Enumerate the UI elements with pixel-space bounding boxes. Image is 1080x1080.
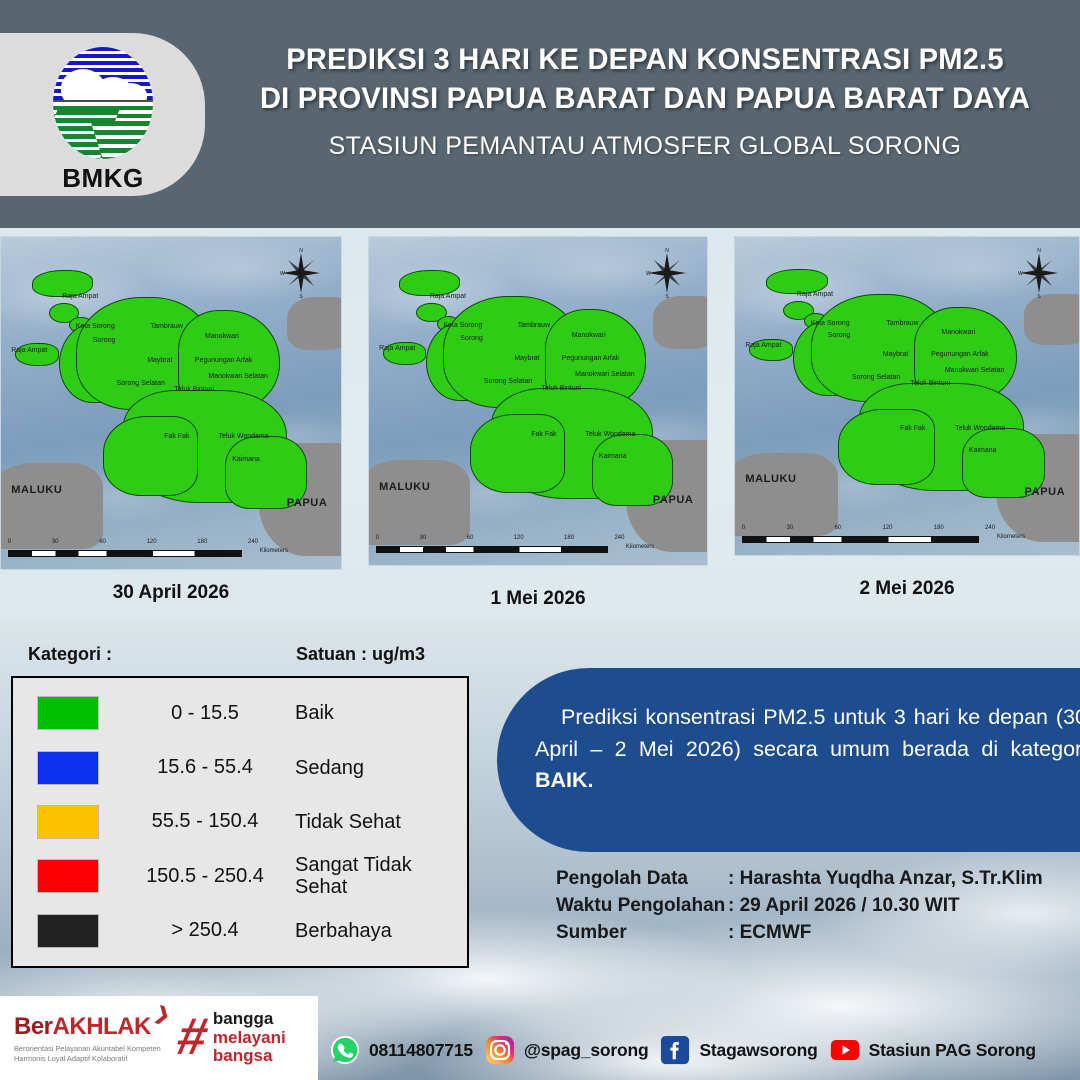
berakhlak-tagline-line1: Berorientasi Pelayanan Akuntabel Kompete…	[14, 1044, 164, 1054]
scale-tick-0: 0	[742, 525, 745, 531]
map-label-maybrat: Maybrat	[514, 355, 539, 362]
map-label-maluku: MALUKU	[11, 484, 62, 496]
map-label-raja-ampat-2: Raja Ampat	[745, 342, 781, 349]
map-image-day1[interactable]: MALUKU PAPUA Tambrauw Manokwari Pegunung…	[0, 236, 342, 570]
legend-box: 0 - 15.5 Baik 15.6 - 55.4 Sedang 55.5 - …	[11, 676, 469, 968]
map-label-maluku: MALUKU	[745, 473, 796, 485]
bangga-line3: bangsa	[213, 1047, 286, 1065]
svg-text:N: N	[299, 248, 303, 254]
map-label-papua: PAPUA	[287, 497, 328, 509]
legend-range: > 250.4	[115, 919, 295, 942]
scale-tick-1: 30	[419, 535, 426, 541]
svg-text:W: W	[1018, 271, 1023, 277]
social-instagram[interactable]: @spag_sorong	[485, 1035, 649, 1065]
scale-tick-3: 120	[882, 525, 892, 531]
map-label-sorong: Sorong	[460, 335, 483, 342]
social-label-facebook: Stagawsorong	[699, 1040, 817, 1061]
meta-value: : Harashta Yuqdha Anzar, S.Tr.Klim	[728, 866, 1043, 893]
map-label-sorong-selatan: Sorong Selatan	[117, 380, 165, 387]
map-caption-day3: 2 Mei 2026	[734, 578, 1080, 600]
legend-range: 55.5 - 150.4	[115, 810, 295, 833]
offshore-landmass	[1024, 294, 1080, 345]
social-facebook[interactable]: Stagawsorong	[660, 1035, 817, 1065]
map-label-pegunungan-arfak: Pegunungan Arfak	[195, 357, 253, 364]
meta-label: Waktu Pengolahan	[556, 893, 728, 920]
map-image-day3[interactable]: MALUKU PAPUA Tambrauw Manokwari Pegunung…	[734, 236, 1080, 556]
instagram-icon[interactable]	[485, 1035, 515, 1065]
social-whatsapp[interactable]: 08114807715	[330, 1035, 473, 1065]
offshore-landmass	[287, 297, 342, 350]
berakhlak-tagline: Berorientasi Pelayanan Akuntabel Kompete…	[14, 1044, 164, 1064]
page-title-line1: PREDIKSI 3 HARI KE DEPAN KONSENTRASI PM2…	[228, 40, 1062, 79]
fakfak-area	[103, 416, 198, 496]
maluku-landmass	[368, 460, 470, 545]
metadata-block: Pengolah Data : Harashta Yuqdha Anzar, S…	[556, 866, 1043, 947]
map-label-raja-ampat-1: Raja Ampat	[62, 293, 98, 300]
svg-text:S: S	[1037, 294, 1041, 299]
social-youtube[interactable]: Stasiun PAG Sorong	[830, 1035, 1036, 1065]
map-label-manokwari: Manokwari	[572, 332, 606, 339]
scale-tick-0: 0	[376, 535, 379, 541]
compass-rose-icon: N W S	[1016, 247, 1062, 299]
map-label-raja-ampat-2: Raja Ampat	[11, 347, 47, 354]
summary-text: Prediksi konsentrasi PM2.5 untuk 3 hari …	[535, 702, 1080, 797]
bangga-melayani-bangsa-logo: # bangga melayani bangsa	[178, 1010, 286, 1065]
map-scalebar: 0 30 60 120 180 240 Kilometers	[8, 541, 280, 559]
legend-swatch-sedang	[37, 751, 99, 785]
scale-unit-label: Kilometers	[997, 534, 1025, 540]
summary-text-main: Prediksi konsentrasi PM2.5 untuk 3 hari …	[535, 705, 1080, 761]
map-label-manokwari-selatan: Manokwari Selatan	[575, 371, 635, 378]
meta-row-pengolah-data: Pengolah Data : Harashta Yuqdha Anzar, S…	[556, 866, 1043, 893]
meta-label: Sumber	[556, 920, 728, 947]
legend-satuan-label: Satuan : ug/m3	[296, 644, 425, 665]
social-label-whatsapp: 08114807715	[369, 1040, 473, 1061]
map-label-maybrat: Maybrat	[883, 351, 908, 358]
compass-rose-icon: N W S	[278, 247, 324, 299]
scale-tick-1: 30	[52, 539, 59, 545]
maluku-landmass	[0, 463, 103, 549]
map-label-kota-sorong: Kota Sorong	[443, 322, 482, 329]
svg-text:S: S	[299, 294, 303, 299]
map-label-fak-fak: Fak Fak	[900, 425, 925, 432]
scale-tick-1: 30	[787, 525, 794, 531]
scale-tick-2: 60	[467, 535, 474, 541]
svg-text:W: W	[280, 271, 285, 277]
scale-tick-2: 60	[99, 539, 106, 545]
map-card-day3[interactable]: MALUKU PAPUA Tambrauw Manokwari Pegunung…	[734, 236, 1080, 600]
logo-plate: BMKG	[0, 33, 205, 196]
map-label-manokwari: Manokwari	[941, 329, 975, 336]
map-label-raja-ampat-1: Raja Ampat	[797, 291, 833, 298]
summary-panel: Prediksi konsentrasi PM2.5 untuk 3 hari …	[497, 668, 1080, 852]
legend-name: Sangat Tidak Sehat	[295, 854, 455, 898]
summary-highlight: BAIK.	[535, 768, 594, 792]
map-scalebar: 0 30 60 120 180 240 Kilometers	[742, 527, 1017, 545]
legend-row: 0 - 15.5 Baik	[13, 686, 467, 740]
whatsapp-icon[interactable]	[330, 1035, 360, 1065]
map-caption-day2: 1 Mei 2026	[368, 588, 708, 610]
meta-row-sumber: Sumber : ECMWF	[556, 920, 1043, 947]
header-text-block: PREDIKSI 3 HARI KE DEPAN KONSENTRASI PM2…	[215, 40, 1075, 161]
legend-row: 15.6 - 55.4 Sedang	[13, 741, 467, 795]
meta-value: : ECMWF	[728, 920, 811, 947]
scale-tick-2: 60	[834, 525, 841, 531]
map-label-maluku: MALUKU	[379, 481, 430, 493]
legend-swatch-tidak-sehat	[37, 805, 99, 839]
map-label-fak-fak: Fak Fak	[531, 431, 556, 438]
map-caption-day1: 30 April 2026	[0, 582, 342, 604]
scale-unit-label: Kilometers	[626, 544, 654, 550]
map-label-sorong: Sorong	[93, 337, 116, 344]
legend-row: 150.5 - 250.4 Sangat Tidak Sehat	[13, 849, 467, 903]
map-label-maybrat: Maybrat	[147, 357, 172, 364]
scale-tick-4: 180	[934, 525, 944, 531]
scale-unit-label: Kilometers	[260, 548, 288, 554]
legend-kategori-label: Kategori :	[28, 644, 112, 665]
legend-range: 150.5 - 250.4	[115, 865, 295, 888]
map-label-tambrauw: Tambrauw	[886, 320, 918, 327]
footer-logo-plate: BerAKHLAK ❯ Berorientasi Pelayanan Akunt…	[0, 996, 318, 1080]
social-label-youtube: Stasiun PAG Sorong	[869, 1040, 1036, 1061]
map-label-teluk-bintuni: Teluk Bintuni	[174, 386, 214, 393]
map-label-manokwari-selatan: Manokwari Selatan	[208, 373, 268, 380]
map-label-teluk-wondama: Teluk Wondama	[585, 431, 635, 438]
bmkg-logo: BMKG	[48, 47, 158, 197]
svg-text:W: W	[646, 271, 651, 277]
legend-name: Tidak Sehat	[295, 811, 455, 833]
svg-text:N: N	[665, 248, 669, 254]
legend-row: 55.5 - 150.4 Tidak Sehat	[13, 795, 467, 849]
legend-range: 15.6 - 55.4	[115, 756, 295, 779]
maluku-landmass	[734, 453, 838, 536]
scale-tick-3: 120	[514, 535, 524, 541]
legend-name: Berbahaya	[295, 920, 455, 942]
scale-tick-5: 240	[614, 535, 624, 541]
legend-row: > 250.4 Berbahaya	[13, 904, 467, 958]
page-subtitle: STASIUN PEMANTAU ATMOSFER GLOBAL SORONG	[215, 132, 1075, 161]
legend-swatch-sangat-tidak-sehat	[37, 859, 99, 893]
map-card-day2[interactable]: MALUKU PAPUA Tambrauw Manokwari Pegunung…	[368, 236, 708, 610]
map-label-tambrauw: Tambrauw	[151, 323, 183, 330]
berakhlak-swoosh-icon: ❯	[153, 1002, 173, 1026]
map-image-day2[interactable]: MALUKU PAPUA Tambrauw Manokwari Pegunung…	[368, 236, 708, 566]
scale-tick-5: 240	[985, 525, 995, 531]
meta-label: Pengolah Data	[556, 866, 728, 893]
map-label-tambrauw: Tambrauw	[518, 322, 550, 329]
berakhlak-logo: BerAKHLAK ❯ Berorientasi Pelayanan Akunt…	[14, 1013, 164, 1064]
legend-name: Sedang	[295, 757, 455, 779]
map-label-kota-sorong: Kota Sorong	[76, 323, 115, 330]
map-label-papua: PAPUA	[1025, 486, 1066, 498]
legend-swatch-baik	[37, 696, 99, 730]
fakfak-area	[838, 409, 934, 485]
hashtag-icon: #	[174, 1017, 212, 1059]
map-scalebar: 0 30 60 120 180 240 Kilometers	[376, 537, 646, 555]
map-label-sorong: Sorong	[828, 332, 851, 339]
meta-value: : 29 April 2026 / 10.30 WIT	[728, 893, 960, 920]
map-label-teluk-wondama: Teluk Wondama	[955, 425, 1005, 432]
map-label-manokwari-selatan: Manokwari Selatan	[945, 367, 1005, 374]
svg-text:S: S	[665, 294, 669, 299]
offshore-landmass	[653, 296, 708, 348]
page-header: BMKG PREDIKSI 3 HARI KE DEPAN KONSENTRAS…	[0, 0, 1080, 228]
map-label-pegunungan-arfak: Pegunungan Arfak	[562, 355, 620, 362]
bangga-words: bangga melayani bangsa	[213, 1010, 286, 1065]
social-media-bar: 08114807715 @spag_sorong Stagawsorong	[330, 1028, 1036, 1072]
scale-tick-0: 0	[8, 539, 11, 545]
legend-range: 0 - 15.5	[115, 702, 295, 725]
legend-name: Baik	[295, 702, 455, 724]
meta-row-waktu-pengolahan: Waktu Pengolahan : 29 April 2026 / 10.30…	[556, 893, 1043, 920]
scale-tick-3: 120	[147, 539, 157, 545]
berakhlak-tagline-line2: Harmonis Loyal Adaptif Kolaboratif	[14, 1054, 164, 1064]
berakhlak-wordmark: BerAKHLAK ❯	[14, 1013, 164, 1041]
scale-tick-4: 180	[197, 539, 207, 545]
map-label-teluk-bintuni: Teluk Bintuni	[910, 380, 950, 387]
bmkg-logo-text: BMKG	[48, 163, 158, 194]
legend-swatch-berbahaya	[37, 914, 99, 948]
map-card-day1[interactable]: MALUKU PAPUA Tambrauw Manokwari Pegunung…	[0, 236, 342, 604]
social-label-instagram: @spag_sorong	[524, 1040, 649, 1061]
map-label-teluk-bintuni: Teluk Bintuni	[541, 385, 581, 392]
bangga-line1: bangga	[213, 1010, 286, 1028]
facebook-icon[interactable]	[660, 1035, 690, 1065]
svg-text:N: N	[1037, 248, 1041, 254]
map-label-fak-fak: Fak Fak	[164, 433, 189, 440]
berakhlak-suffix: AKHLAK	[53, 1013, 151, 1040]
page-title-line2: DI PROVINSI PAPUA BARAT DAN PAPUA BARAT …	[228, 79, 1062, 118]
map-label-kaimana: Kaimana	[232, 456, 260, 463]
compass-rose-icon: N W S	[644, 247, 690, 299]
map-label-sorong-selatan: Sorong Selatan	[484, 378, 532, 385]
youtube-icon[interactable]	[830, 1035, 860, 1065]
scale-tick-4: 180	[564, 535, 574, 541]
map-label-papua: PAPUA	[653, 494, 694, 506]
map-label-kaimana: Kaimana	[599, 453, 627, 460]
map-label-sorong-selatan: Sorong Selatan	[852, 374, 900, 381]
berakhlak-prefix: Ber	[14, 1013, 53, 1040]
fakfak-area	[470, 414, 565, 493]
bangga-line2: melayani	[213, 1029, 286, 1047]
map-label-raja-ampat-2: Raja Ampat	[379, 345, 415, 352]
scale-tick-5: 240	[248, 539, 258, 545]
map-label-kaimana: Kaimana	[969, 447, 997, 454]
map-label-raja-ampat-1: Raja Ampat	[430, 293, 466, 300]
map-label-pegunungan-arfak: Pegunungan Arfak	[931, 351, 989, 358]
map-label-kota-sorong: Kota Sorong	[811, 320, 850, 327]
map-label-manokwari: Manokwari	[205, 333, 239, 340]
bmkg-emblem-icon	[53, 47, 153, 159]
map-label-teluk-wondama: Teluk Wondama	[219, 433, 269, 440]
